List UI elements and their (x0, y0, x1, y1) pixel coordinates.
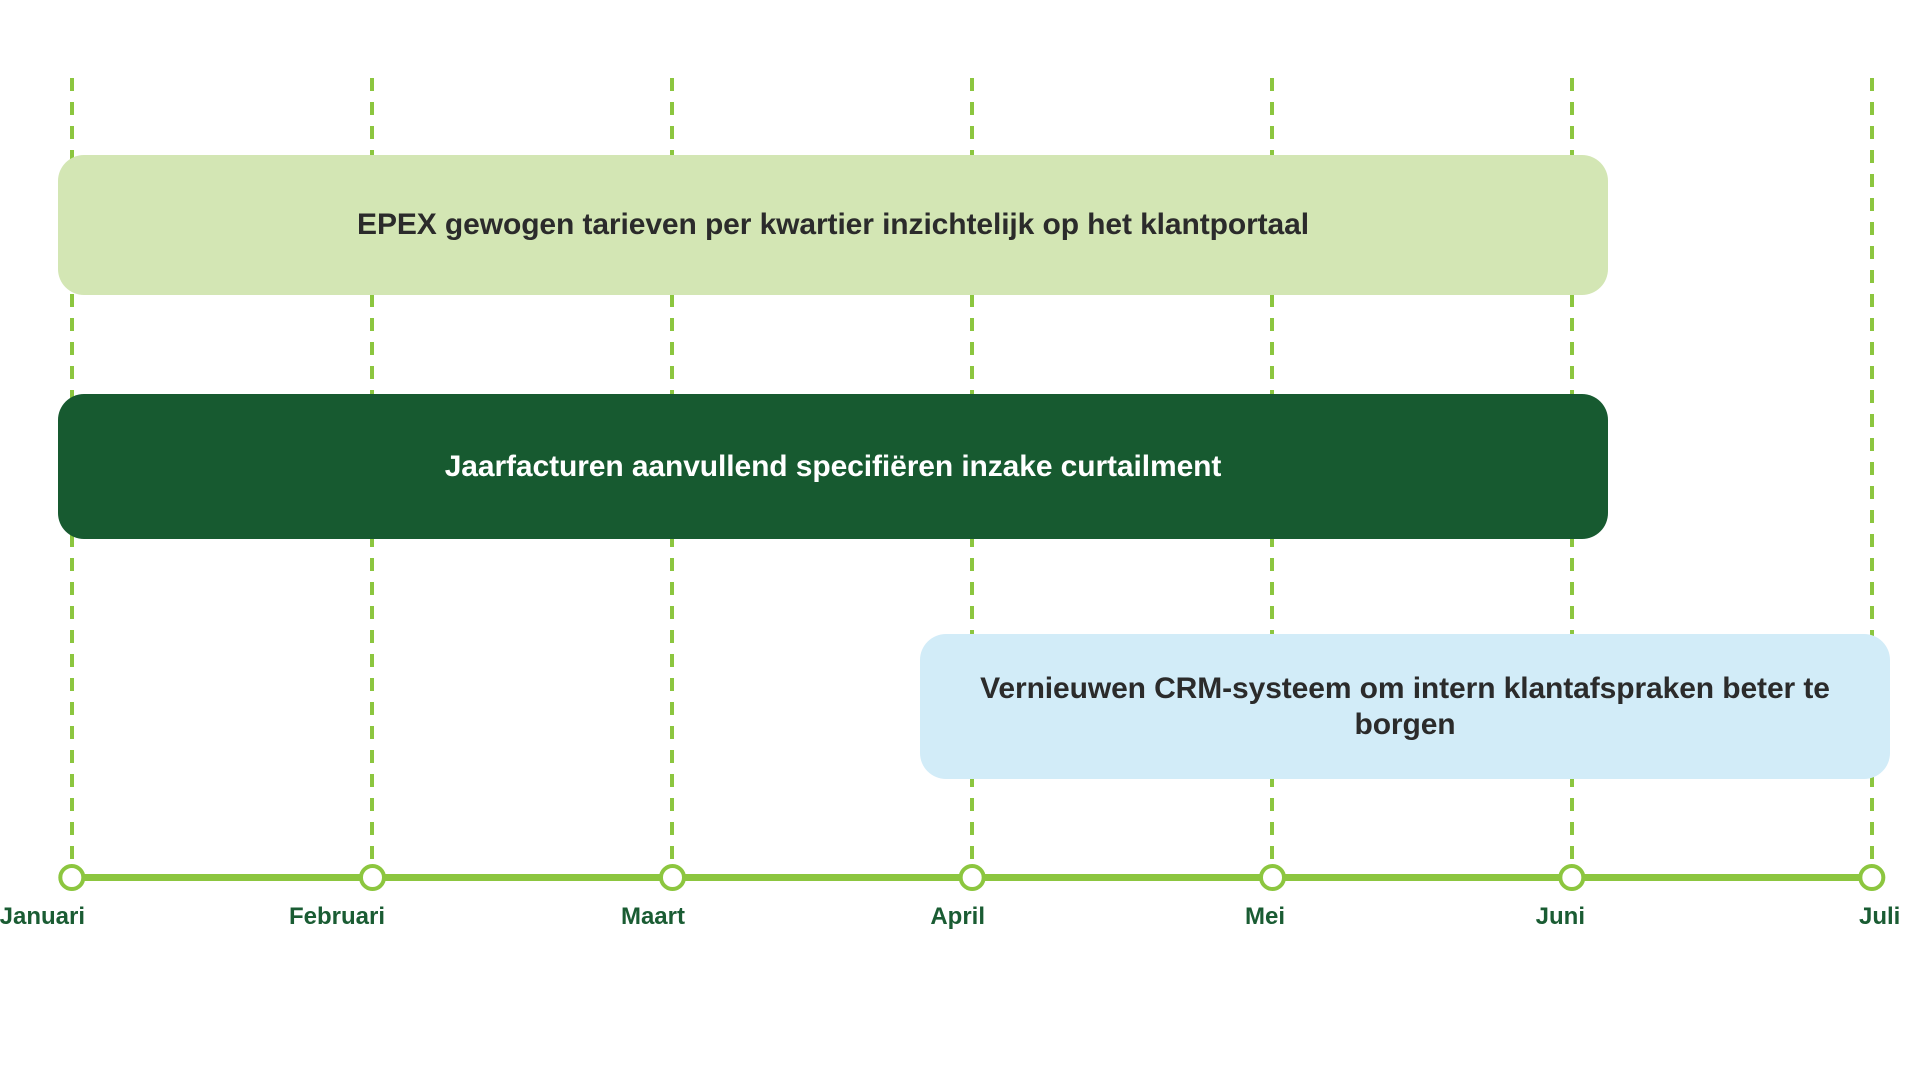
month-marker-juni[interactable]: Juni (1547, 864, 1596, 931)
task-bar-crm-label: Vernieuwen CRM-systeem om intern klantaf… (954, 671, 1856, 742)
task-bar-crm[interactable]: Vernieuwen CRM-systeem om intern klantaf… (920, 634, 1890, 779)
circle-marker-icon (659, 864, 686, 891)
month-marker-januari[interactable]: Januari (29, 864, 114, 931)
month-marker-april[interactable]: April (945, 864, 1000, 931)
circle-marker-icon (1859, 864, 1886, 891)
circle-marker-icon (1258, 864, 1285, 891)
circle-marker-icon (1559, 864, 1586, 891)
task-bar-jaarfacturen[interactable]: Jaarfacturen aanvullend specifiëren inza… (58, 394, 1608, 539)
month-label-juni: Juni (1536, 903, 1585, 931)
month-label-maart: Maart (621, 903, 685, 931)
month-marker-februari[interactable]: Februari (324, 864, 420, 931)
task-bar-epex-label: EPEX gewogen tarieven per kwartier inzic… (357, 207, 1309, 242)
circle-marker-icon (359, 864, 386, 891)
month-label-juli: Juli (1859, 903, 1900, 931)
circle-marker-icon (59, 864, 86, 891)
month-label-mei: Mei (1245, 903, 1285, 931)
month-marker-juli[interactable]: Juli (1851, 864, 1892, 931)
circle-marker-icon (958, 864, 985, 891)
month-marker-maart[interactable]: Maart (640, 864, 704, 931)
task-bar-epex[interactable]: EPEX gewogen tarieven per kwartier inzic… (58, 155, 1608, 295)
month-marker-mei[interactable]: Mei (1252, 864, 1292, 931)
timeline-diagram: EPEX gewogen tarieven per kwartier inzic… (0, 0, 1920, 1080)
month-label-januari: Januari (0, 903, 85, 931)
month-label-februari: Februari (289, 903, 385, 931)
month-label-april: April (930, 903, 985, 931)
task-bar-jaarfacturen-label: Jaarfacturen aanvullend specifiëren inza… (445, 449, 1222, 484)
